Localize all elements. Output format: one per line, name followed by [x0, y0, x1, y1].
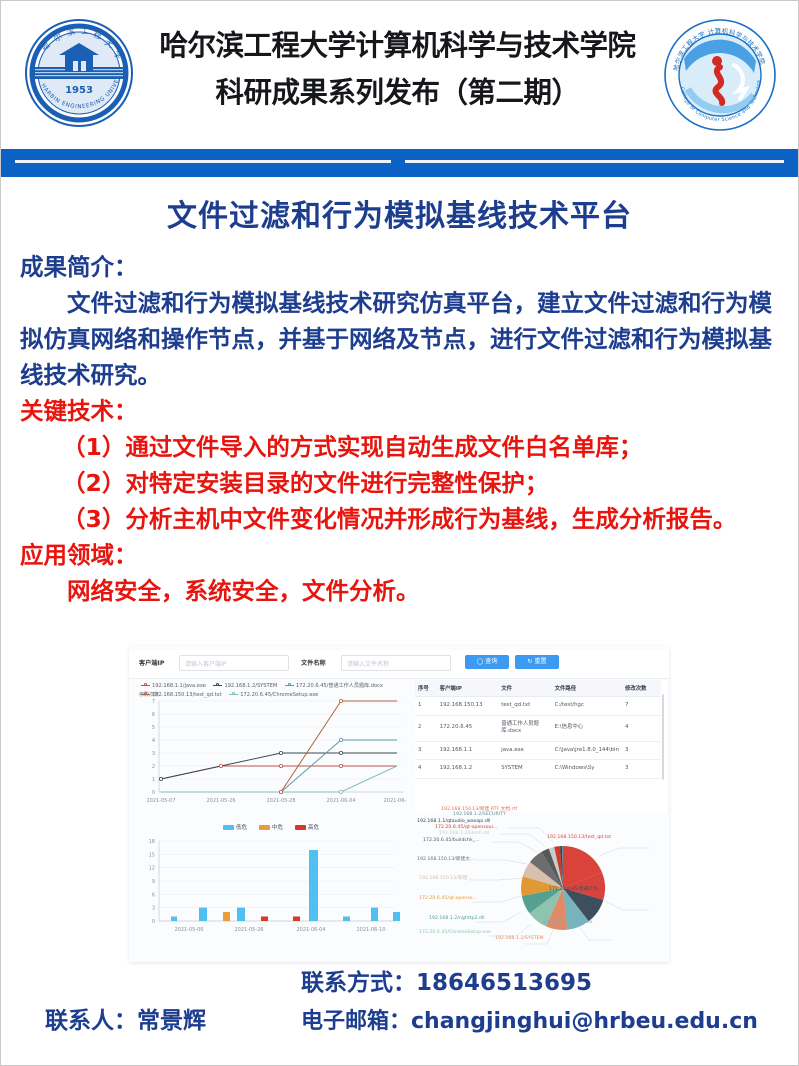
- cell-file: test_qd.txt: [498, 697, 551, 716]
- band-rule-right: [405, 160, 784, 163]
- college-of-computer-science-logo: 哈尔滨工程大学 计算机科学与技术学院 College of Computer S…: [662, 17, 778, 133]
- svg-text:2021-05-26: 2021-05-26: [206, 798, 235, 804]
- pie-label: 192.168.150.13/新建 RTF 文档.rtf: [441, 806, 517, 812]
- pie-label: 172.20.6.45/qt-openso...: [419, 896, 477, 901]
- svg-text:1: 1: [152, 777, 155, 783]
- pie-label: 192.168.150.13/新建...: [419, 875, 472, 881]
- svg-text:18: 18: [149, 839, 155, 845]
- cell-modify-count: 4: [622, 715, 661, 741]
- svg-text:12: 12: [149, 866, 155, 872]
- pie-label: 192.168.1.2/SYSTEM: [495, 936, 544, 941]
- cell-index: 4: [415, 760, 437, 779]
- header-title-line2: 科研成果系列发布（第二期）: [135, 69, 660, 117]
- query-button-label: 查询: [485, 658, 497, 665]
- pie-label: 192.168.150.13/test_qd.txt: [547, 835, 611, 840]
- key-tech-item-2: （2）对特定安装目录的文件进行完整性保护；: [20, 465, 782, 501]
- client-ip-placeholder: 请输入客户端IP: [185, 659, 226, 668]
- contact-details: 联系方式：18646513695 电子邮箱：changjinghui@hrbeu…: [301, 964, 758, 1041]
- svg-text:2021-05-28: 2021-05-28: [266, 798, 295, 804]
- contact-phone: 联系方式：18646513695: [301, 964, 758, 1003]
- file-change-table: 序号 客户端IP 文件 文件路径 修改次数 1 192.168.150.13 t…: [415, 680, 667, 812]
- svg-text:2021-06-10: 2021-06-10: [356, 927, 385, 933]
- svg-text:15: 15: [149, 852, 155, 858]
- legend-marker-icon: [141, 683, 150, 688]
- file-name-input[interactable]: 请输入文件名称: [341, 655, 451, 671]
- svg-text:2021-05-07: 2021-05-07: [146, 798, 175, 804]
- svg-text:6: 6: [152, 712, 155, 718]
- legend-item[interactable]: 192.168.1.1/java.exe: [141, 682, 206, 691]
- legend-item[interactable]: 低危: [223, 823, 247, 831]
- bar-series: [171, 850, 400, 921]
- svg-text:6: 6: [152, 892, 155, 898]
- svg-text:2: 2: [152, 764, 155, 770]
- legend-swatch-icon: [223, 825, 234, 830]
- logo-year: 1953: [65, 85, 93, 96]
- pie-chart: 192.168.150.13/test_qd.txt 172.20.6.45/普…: [413, 818, 669, 958]
- platform-screenshot: 客户端IP 请输入客户端IP 文件名称 请输入文件名称 ◯查询 ↻重置: [129, 646, 669, 962]
- cell-file-path: C:/test/hgc: [552, 697, 622, 716]
- intro-heading: 成果简介：: [20, 249, 782, 285]
- line-chart: 192.168.1.1/java.exe 192.168.1.2/SYSTEM …: [131, 680, 411, 810]
- intro-body: 文件过滤和行为模拟基线技术研究仿真平台，建立文件过滤和行为模拟仿真网络和操作节点…: [20, 285, 782, 393]
- key-tech-item-3: （3）分析主机中文件变化情况并形成行为基线，生成分析报告。: [20, 501, 782, 537]
- bar-chart-svg: 181512 963 0: [131, 821, 411, 951]
- cell-modify-count: 3: [622, 760, 661, 779]
- harbin-engineering-university-logo: 1953 HARBIN ENGINEERING UNIVERSITY 哈 尔 滨…: [23, 17, 135, 129]
- svg-text:2021-06-04: 2021-06-04: [326, 798, 355, 804]
- contact-email: 电子邮箱：changjinghui@hrbeu.edu.cn: [301, 1003, 758, 1041]
- poster-header: 1953 HARBIN ENGINEERING UNIVERSITY 哈 尔 滨…: [1, 1, 798, 138]
- legend-item[interactable]: 192.168.1.2/SYSTEM: [213, 682, 277, 691]
- cell-index: 2: [415, 715, 437, 741]
- table-header-row: 序号 客户端IP 文件 文件路径 修改次数: [415, 680, 661, 697]
- header-title-line1: 哈尔滨工程大学计算机科学与技术学院: [135, 23, 660, 69]
- svg-text:0: 0: [152, 919, 155, 925]
- cell-file: 普通工作人员题库.docx: [498, 715, 551, 741]
- poster-page: 1953 HARBIN ENGINEERING UNIVERSITY 哈 尔 滨…: [1, 1, 798, 1065]
- header-title-block: 哈尔滨工程大学计算机科学与技术学院 科研成果系列发布（第二期）: [135, 23, 660, 117]
- pie-label: 192.168.1.2/libmti.dll: [439, 831, 489, 836]
- client-ip-input[interactable]: 请输入客户端IP: [179, 655, 289, 671]
- legend-swatch-icon: [295, 825, 306, 830]
- svg-text:2021-05-06: 2021-05-06: [174, 927, 203, 933]
- search-toolbar: 客户端IP 请输入客户端IP 文件名称 请输入文件名称 ◯查询 ↻重置: [129, 650, 669, 679]
- reset-button[interactable]: ↻重置: [515, 655, 559, 669]
- legend-item[interactable]: 中危: [259, 823, 283, 831]
- cell-index: 1: [415, 697, 437, 716]
- reset-button-label: 重置: [534, 658, 546, 665]
- query-button[interactable]: ◯查询: [465, 655, 509, 669]
- cell-file-path: C:\Java\jre1.8.0_144\bin: [552, 741, 622, 760]
- cell-client-ip: 192.168.150.13: [437, 697, 499, 716]
- svg-text:9: 9: [152, 879, 155, 885]
- legend-marker-icon: [229, 692, 238, 697]
- legend-marker-icon: [285, 683, 294, 688]
- cell-client-ip: 192.168.1.2: [437, 760, 499, 779]
- col-file-path: 文件路径: [552, 680, 622, 697]
- bar-chart-legend: 低危 中危 高危: [131, 823, 411, 831]
- table-row[interactable]: 2 172.20.6.45 普通工作人员题库.docx E:\信息中心 4: [415, 715, 661, 741]
- cell-file: SYSTEM: [498, 760, 551, 779]
- domain-body: 网络安全，系统安全，文件分析。: [20, 573, 782, 609]
- svg-text:4: 4: [152, 738, 155, 744]
- pie-label: 192.168.1.2/SECURITY: [453, 812, 506, 817]
- table-row[interactable]: 1 192.168.150.13 test_qd.txt C:/test/hgc…: [415, 697, 661, 716]
- client-ip-label: 客户端IP: [139, 658, 164, 667]
- cell-file-path: E:\信息中心: [552, 715, 622, 741]
- col-modify-count: 修改次数: [622, 680, 661, 697]
- table-scrollbar[interactable]: [662, 694, 664, 780]
- svg-text:3: 3: [152, 751, 155, 757]
- col-file: 文件: [498, 680, 551, 697]
- cell-modify-count: 3: [622, 741, 661, 760]
- col-index: 序号: [415, 680, 437, 697]
- table-row[interactable]: 4 192.168.1.2 SYSTEM C:\Windows\Sy 3: [415, 760, 661, 779]
- svg-text:0: 0: [152, 790, 155, 796]
- pie-label: 192.168.1.1/qtaudio_wasapi.dll: [417, 819, 490, 824]
- line-chart-legend: 192.168.1.1/java.exe 192.168.1.2/SYSTEM …: [141, 682, 409, 700]
- cell-file-path: C:\Windows\Sy: [552, 760, 622, 779]
- line-chart-ylabel: 修改次数: [139, 691, 159, 698]
- svg-text:2021-05-26: 2021-05-26: [234, 927, 263, 933]
- cell-modify-count: 7: [622, 697, 661, 716]
- bar-chart: 低危 中危 高危: [131, 821, 411, 951]
- page-title: 文件过滤和行为模拟基线技术平台: [1, 191, 798, 235]
- table-row[interactable]: 3 192.168.1.1 java.exe C:\Java\jre1.8.0_…: [415, 741, 661, 760]
- key-tech-item-1: （1）通过文件导入的方式实现自动生成文件白名单库；: [20, 429, 782, 465]
- file-name-label: 文件名称: [301, 658, 326, 667]
- pie-label: 172.20.6.45/qt-opensour...: [435, 825, 497, 830]
- legend-swatch-icon: [259, 825, 270, 830]
- refresh-icon: ↻: [527, 658, 532, 665]
- cell-index: 3: [415, 741, 437, 760]
- pie-label: 172.20.6.45/buildchk_...: [423, 838, 480, 843]
- pie-label: 192.168.150.13/新建文...: [417, 856, 474, 862]
- legend-item[interactable]: 172.20.6.45/ChromeSetup.exe: [229, 691, 318, 700]
- cell-client-ip: 192.168.1.1: [437, 741, 499, 760]
- pie-label: 172.20.6.45/普通工作...: [549, 886, 602, 892]
- pie-label: 192.168.1.1/java.exe: [543, 920, 593, 925]
- poster-body: 成果简介： 文件过滤和行为模拟基线技术研究仿真平台，建立文件过滤和行为模拟仿真网…: [20, 249, 782, 609]
- pie-label: 192.168.1.2/nghttp2.dll: [429, 916, 485, 921]
- cell-client-ip: 172.20.6.45: [437, 715, 499, 741]
- domain-heading: 应用领域：: [20, 537, 782, 573]
- legend-item[interactable]: 172.20.6.45/普通工作人员题库.docx: [285, 682, 383, 691]
- svg-text:工: 工: [81, 27, 89, 36]
- contact-person: 联系人：常景辉: [45, 1001, 206, 1035]
- col-client-ip: 客户端IP: [437, 680, 499, 697]
- legend-marker-icon: [213, 683, 222, 688]
- cell-file: java.exe: [498, 741, 551, 760]
- pie-label: 172.20.6.45/ChromeSetup.exe: [419, 930, 491, 935]
- legend-item[interactable]: 高危: [295, 823, 319, 831]
- svg-text:5: 5: [152, 725, 155, 731]
- file-name-placeholder: 请输入文件名称: [347, 659, 389, 668]
- band-rule-left: [15, 160, 391, 163]
- header-divider-band: [1, 149, 798, 177]
- svg-text:3: 3: [152, 906, 155, 912]
- key-tech-heading: 关键技术：: [20, 393, 782, 429]
- search-icon: ◯: [476, 658, 483, 665]
- table: 序号 客户端IP 文件 文件路径 修改次数 1 192.168.150.13 t…: [415, 680, 661, 779]
- svg-text:2021-06-: 2021-06-: [384, 798, 407, 804]
- svg-text:2021-06-04: 2021-06-04: [296, 927, 325, 933]
